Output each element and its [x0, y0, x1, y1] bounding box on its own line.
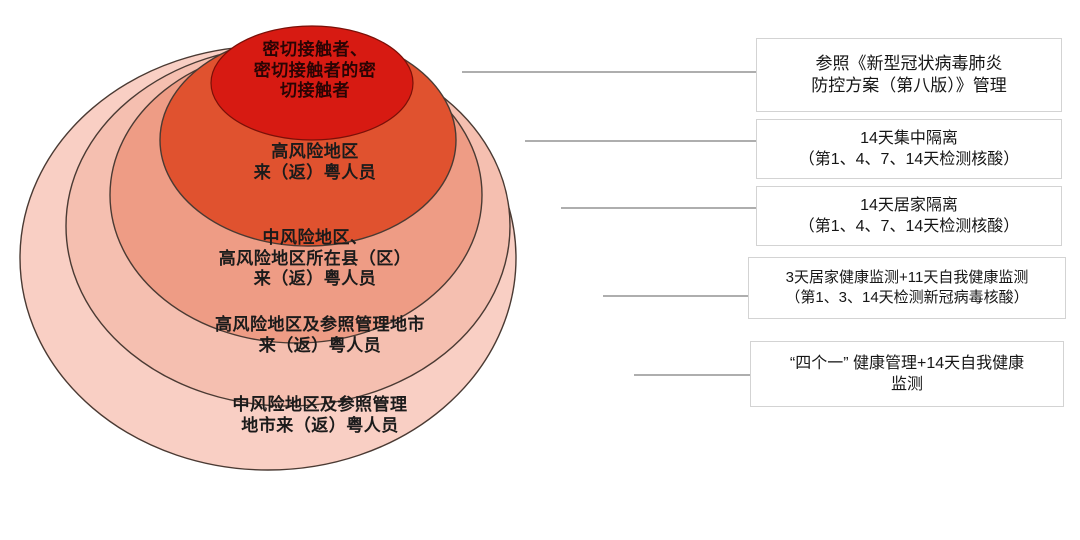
ring-1-ellipse[interactable]: [211, 26, 413, 140]
diagram-canvas: 密切接触者、 密切接触者的密 切接触者 高风险地区 来（返）粤人员 中风险地区、…: [0, 0, 1080, 540]
callout-box-1[interactable]: 参照《新型冠状病毒肺炎 防控方案（第八版）》管理: [756, 38, 1062, 112]
callout-box-4[interactable]: 3天居家健康监测+11天自我健康监测 （第1、3、14天检测新冠病毒核酸）: [748, 257, 1066, 319]
callout-box-2[interactable]: 14天集中隔离 （第1、4、7、14天检测核酸）: [756, 119, 1062, 179]
callout-box-5[interactable]: “四个一” 健康管理+14天自我健康 监测: [750, 341, 1064, 407]
callout-box-3[interactable]: 14天居家隔离 （第1、4、7、14天检测核酸）: [756, 186, 1062, 246]
